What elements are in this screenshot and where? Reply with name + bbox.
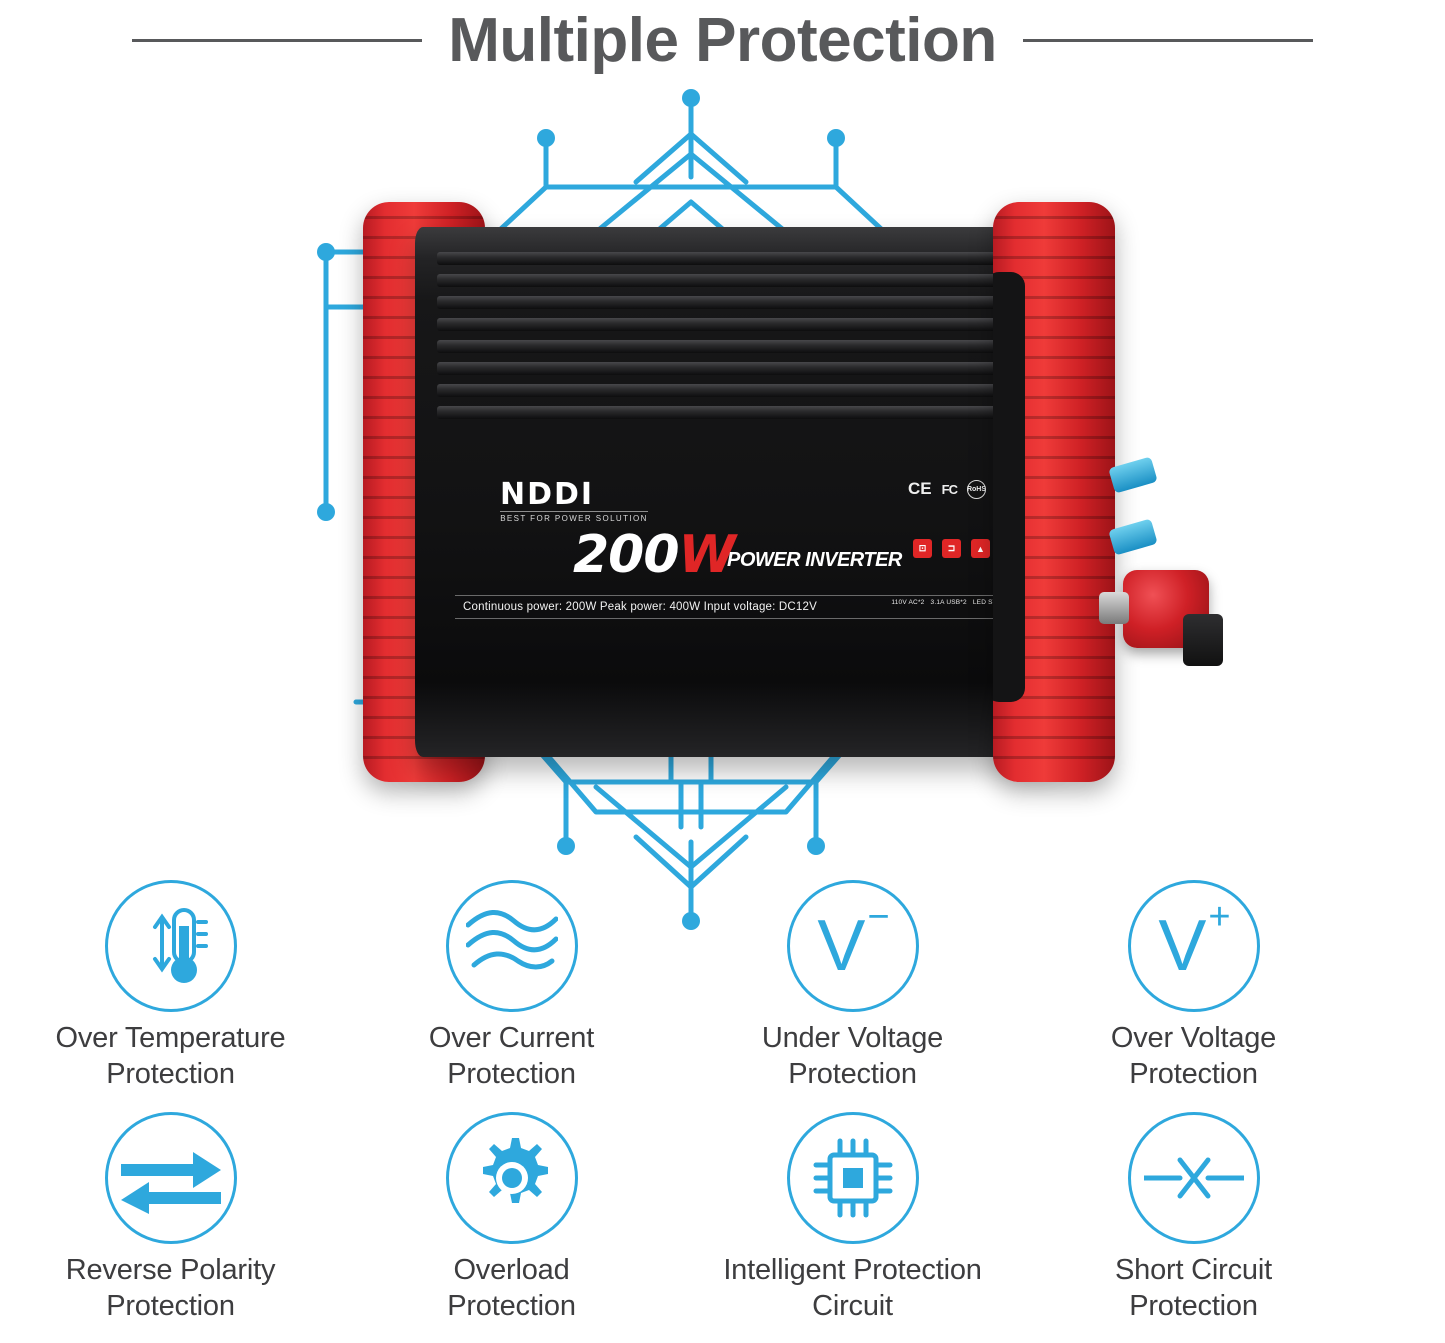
port-label-ac: 110V AC*2 bbox=[891, 598, 924, 607]
chip-circuit-icon bbox=[810, 1135, 896, 1221]
feature-caption-line1: Short Circuit bbox=[1115, 1252, 1272, 1288]
voltage-letter: V bbox=[1158, 906, 1206, 986]
feature-caption: Over Temperature Protection bbox=[56, 1020, 286, 1092]
feature-caption: Short Circuit Protection bbox=[1115, 1252, 1272, 1324]
feature-caption-line1: Intelligent Protection bbox=[723, 1252, 981, 1288]
header-rule-left bbox=[132, 39, 422, 42]
product-type-text: POWER INVERTER bbox=[727, 549, 902, 572]
feature-caption: Intelligent Protection Circuit bbox=[723, 1252, 981, 1324]
feature-overload: Overload Protection bbox=[341, 1112, 682, 1324]
hero-section: NDDI BEST FOR POWER SOLUTION CE FC RoHS … bbox=[0, 72, 1445, 942]
certification-marks: CE FC RoHS bbox=[908, 479, 986, 499]
terminal-nut bbox=[1183, 614, 1223, 666]
feature-over-current: Over Current Protection bbox=[341, 880, 682, 1092]
feature-caption-line2: Protection bbox=[66, 1288, 276, 1324]
feature-caption-line1: Over Current bbox=[429, 1020, 594, 1056]
under-voltage-circle: V− bbox=[787, 880, 919, 1012]
feature-caption-line2: Protection bbox=[447, 1288, 576, 1324]
feature-caption-line2: Protection bbox=[1115, 1288, 1272, 1324]
feature-caption-line1: Over Temperature bbox=[56, 1020, 286, 1056]
feature-caption-line2: Circuit bbox=[723, 1288, 981, 1324]
feature-caption-line1: Reverse Polarity bbox=[66, 1252, 276, 1288]
page-header: Multiple Protection bbox=[0, 0, 1445, 80]
fcc-mark: FC bbox=[942, 482, 957, 497]
blue-terminal-cover-bottom bbox=[1108, 518, 1157, 555]
feature-under-voltage: V− Under Voltage Protection bbox=[682, 880, 1023, 1092]
over-voltage-circle: V+ bbox=[1128, 880, 1260, 1012]
feature-caption-line2: Protection bbox=[429, 1056, 594, 1092]
voltage-letter: V bbox=[817, 906, 865, 986]
wattage-text: 200W bbox=[573, 525, 735, 585]
feature-short-circuit: Short Circuit Protection bbox=[1023, 1112, 1364, 1324]
usb-icon: ⊐ bbox=[942, 539, 961, 558]
feature-caption: Over Voltage Protection bbox=[1111, 1020, 1276, 1092]
feature-caption: Overload Protection bbox=[447, 1252, 576, 1324]
feature-caption: Over Current Protection bbox=[429, 1020, 594, 1092]
blue-terminal-cover-top bbox=[1108, 456, 1157, 493]
port-icon-row: ⊡ ⊐ ▲ bbox=[913, 539, 990, 558]
feature-caption-line1: Over Voltage bbox=[1111, 1020, 1276, 1056]
feature-over-voltage: V+ Over Voltage Protection bbox=[1023, 880, 1364, 1092]
wattage-number: 200 bbox=[573, 525, 679, 585]
short-circuit-icon bbox=[1144, 1148, 1244, 1208]
brand-name: NDDI bbox=[500, 477, 594, 512]
voltage-sign: + bbox=[1208, 896, 1230, 938]
wave-current-icon bbox=[466, 907, 558, 985]
voltage-sign: − bbox=[867, 896, 889, 938]
port-label-usb: 3.1A USB*2 bbox=[931, 598, 967, 607]
thermometer-icon bbox=[132, 904, 210, 988]
power-inverter-product-image: NDDI BEST FOR POWER SOLUTION CE FC RoHS … bbox=[345, 202, 1225, 822]
feature-row-2: Reverse Polarity Protection Overload Pro… bbox=[0, 1112, 1445, 1324]
feature-caption-line2: Protection bbox=[762, 1056, 943, 1092]
dc-terminal-block bbox=[1085, 462, 1225, 692]
header-rule-right bbox=[1023, 39, 1313, 42]
product-label: NDDI BEST FOR POWER SOLUTION CE FC RoHS … bbox=[455, 477, 1020, 637]
feature-intelligent-protection-circuit: Intelligent Protection Circuit bbox=[682, 1112, 1023, 1324]
feature-caption-line1: Under Voltage bbox=[762, 1020, 943, 1056]
under-voltage-icon: V− bbox=[817, 910, 887, 982]
overload-circle bbox=[446, 1112, 578, 1244]
feature-row-1: Over Temperature Protection Over Current… bbox=[0, 880, 1445, 1092]
feature-caption-line2: Protection bbox=[56, 1056, 286, 1092]
reverse-polarity-icon bbox=[121, 1142, 221, 1214]
spec-text: Continuous power: 200W Peak power: 400W … bbox=[455, 601, 817, 613]
ce-mark: CE bbox=[908, 479, 932, 499]
feature-caption: Reverse Polarity Protection bbox=[66, 1252, 276, 1324]
gear-overload-icon bbox=[470, 1136, 554, 1220]
intelligent-protection-circle bbox=[787, 1112, 919, 1244]
over-temperature-circle bbox=[105, 880, 237, 1012]
heat-sink-fins bbox=[437, 252, 1037, 417]
over-voltage-icon: V+ bbox=[1158, 910, 1228, 982]
short-circuit-circle bbox=[1128, 1112, 1260, 1244]
socket-icon: ⊡ bbox=[913, 539, 932, 558]
rohs-mark: RoHS bbox=[967, 480, 986, 499]
over-current-circle bbox=[446, 880, 578, 1012]
feature-reverse-polarity: Reverse Polarity Protection bbox=[0, 1112, 341, 1324]
reverse-polarity-circle bbox=[105, 1112, 237, 1244]
spec-bar: Continuous power: 200W Peak power: 400W … bbox=[455, 595, 1020, 619]
led-status-icon: ▲ bbox=[971, 539, 990, 558]
page-title: Multiple Protection bbox=[448, 5, 997, 76]
feature-caption: Under Voltage Protection bbox=[762, 1020, 943, 1092]
protection-feature-grid: Over Temperature Protection Over Current… bbox=[0, 880, 1445, 1343]
feature-caption-line2: Protection bbox=[1111, 1056, 1276, 1092]
feature-over-temperature: Over Temperature Protection bbox=[0, 880, 341, 1092]
brand-tagline: BEST FOR POWER SOLUTION bbox=[500, 511, 648, 523]
feature-caption-line1: Overload bbox=[447, 1252, 576, 1288]
